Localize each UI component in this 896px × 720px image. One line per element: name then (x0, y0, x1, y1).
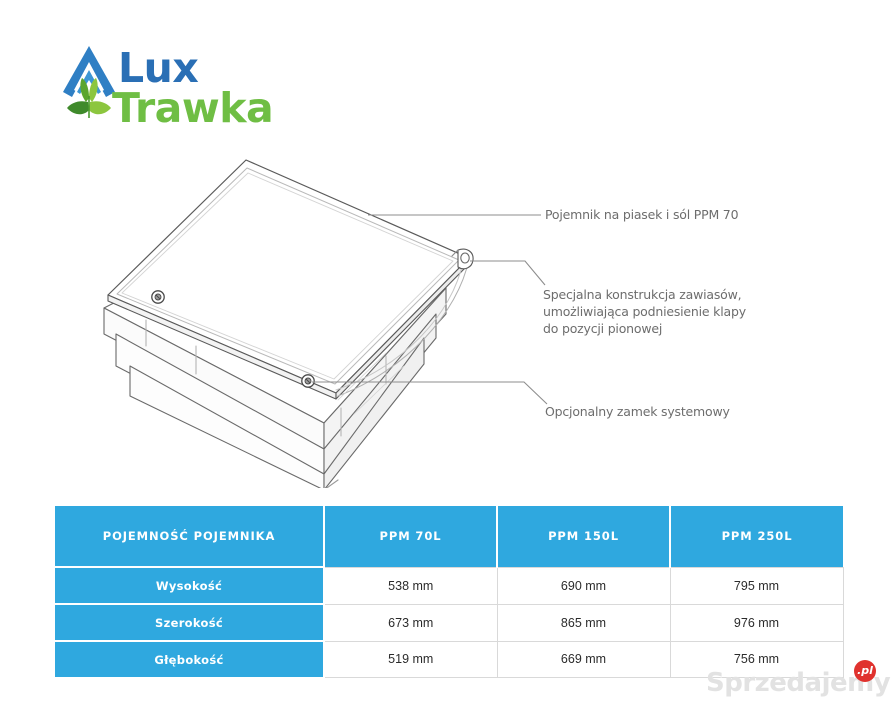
row-label-depth: Głębokość (55, 641, 324, 677)
callout-hinge-label: Specjalna konstrukcja zawiasów, umożliwi… (543, 286, 746, 337)
brand-logo-wordmark: Lux Trawka (112, 38, 342, 128)
specifications-table: POJEMNOŚĆ POJEMNIKA PPM 70L PPM 150L PPM… (55, 506, 844, 678)
table-header-ppm250: PPM 250L (670, 506, 843, 567)
brand-logo: Lux Trawka (58, 38, 288, 130)
table-header-row: POJEMNOŚĆ POJEMNIKA PPM 70L PPM 150L PPM… (55, 506, 843, 567)
cell-width-ppm250: 976 mm (670, 604, 843, 641)
sprzedajemy-watermark: Sprzedajemy .pl (706, 668, 886, 708)
optional-lock-detail (302, 375, 314, 387)
table-header-ppm150: PPM 150L (497, 506, 670, 567)
table-row: Szerokość 673 mm 865 mm 976 mm (55, 604, 843, 641)
cell-depth-ppm70: 519 mm (324, 641, 497, 677)
cell-width-ppm70: 673 mm (324, 604, 497, 641)
sand-salt-container-illustration (86, 138, 506, 488)
cell-width-ppm150: 865 mm (497, 604, 670, 641)
callout-container-label: Pojemnik na piasek i sól PPM 70 (545, 206, 738, 223)
brand-name-secondary: Trawka (112, 88, 273, 129)
product-spec-page: Lux Trawka (0, 0, 896, 720)
cell-height-ppm250: 795 mm (670, 567, 843, 604)
table-header-capacity: POJEMNOŚĆ POJEMNIKA (55, 506, 324, 567)
callout-lock-label: Opcjonalny zamek systemowy (545, 403, 730, 420)
cell-height-ppm70: 538 mm (324, 567, 497, 604)
lock-detail (152, 291, 164, 303)
table-body: Wysokość 538 mm 690 mm 795 mm Szerokość … (55, 567, 843, 677)
watermark-pl-badge: .pl (854, 660, 876, 682)
droplet-leaf-logo-icon (58, 40, 120, 128)
brand-name-primary: Lux (118, 48, 198, 89)
table-header-ppm70: PPM 70L (324, 506, 497, 567)
table-header: POJEMNOŚĆ POJEMNIKA PPM 70L PPM 150L PPM… (55, 506, 843, 567)
row-label-height: Wysokość (55, 567, 324, 604)
cell-height-ppm150: 690 mm (497, 567, 670, 604)
cell-depth-ppm150: 669 mm (497, 641, 670, 677)
row-label-width: Szerokość (55, 604, 324, 641)
table-row: Wysokość 538 mm 690 mm 795 mm (55, 567, 843, 604)
